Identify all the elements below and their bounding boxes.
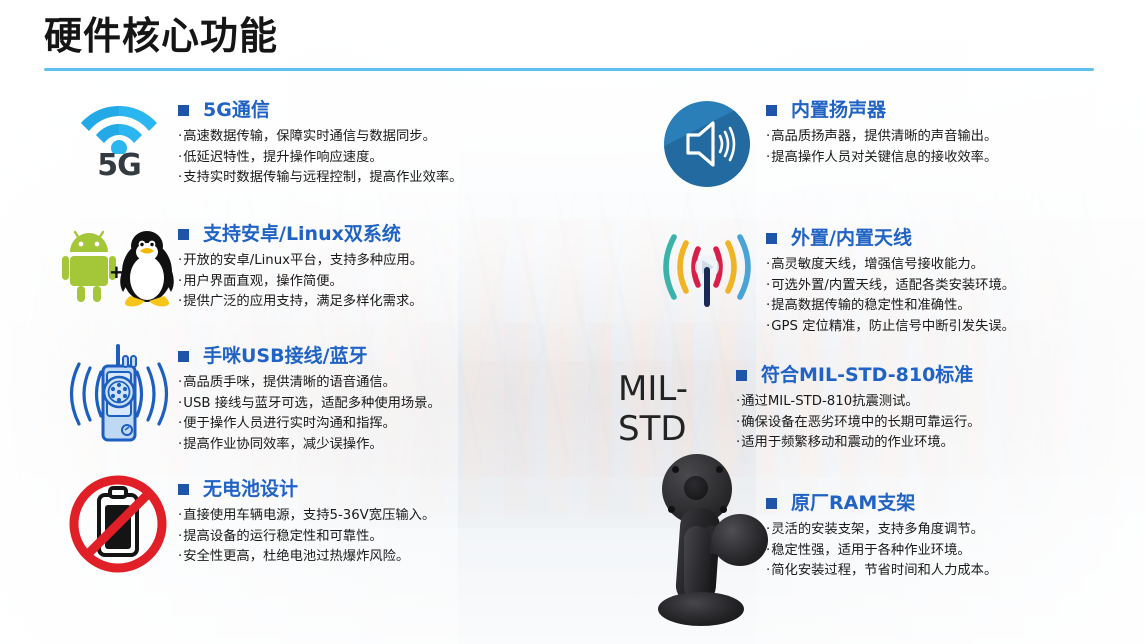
list-item: ·提高数据传输的稳定性和准确性。 — [766, 296, 1128, 317]
ram-mount-hole — [672, 466, 679, 473]
slide-header: 硬件核心功能 — [44, 14, 1104, 71]
list-item: ·提高设备的运行稳定性和可靠性。 — [178, 527, 580, 548]
list-item: ·适用于频繁移动和震动的作业环境。 — [736, 433, 1128, 454]
feature-icon-slot: + — [60, 220, 178, 316]
feature-body: 外置/内置天线 ·高灵敏度天线，增强信号接收能力。 ·可选外置/内置天线，适配各… — [766, 224, 1128, 337]
mil-std-wordmark: MIL-STD — [618, 379, 736, 439]
bullet-text: 确保设备在恶劣环境中的长期可靠运行。 — [741, 415, 980, 430]
feature-heading: 5G通信 — [178, 100, 580, 121]
list-item: ·提高操作人员对关键信息的接收效率。 — [766, 148, 1128, 169]
bullet-text: 高灵敏度天线，增强信号接收能力。 — [771, 257, 984, 272]
list-item: ·支持实时数据传输与远程控制，提高作业效率。 — [178, 168, 580, 189]
mil-std-wordmark-text: MIL-STD — [618, 369, 736, 449]
bullet-text: 高速数据传输，保障实时通信与数据同步。 — [183, 129, 436, 144]
feature-bullet-list: ·直接使用车辆电源，支持5-36V宽压输入。 ·提高设备的运行稳定性和可靠性。 … — [178, 506, 580, 568]
feature-title: 手咪USB接线/蓝牙 — [203, 346, 368, 367]
feature-5g-communication: 5G 5G通信 ·高速数据传输，保障实时通信与数据同步。 ·低延迟特性，提升操作… — [60, 96, 580, 192]
ram-mount-photo — [640, 452, 800, 630]
feature-antenna: 外置/内置天线 ·高灵敏度天线，增强信号接收能力。 ·可选外置/内置天线，适配各… — [648, 224, 1128, 337]
feature-heading: 无电池设计 — [178, 479, 580, 500]
feature-no-battery-design: 无电池设计 ·直接使用车辆电源，支持5-36V宽压输入。 ·提高设备的运行稳定性… — [60, 475, 580, 573]
list-item: ·高品质扬声器，提供清晰的声音输出。 — [766, 127, 1128, 148]
ram-mount-hole — [716, 466, 723, 473]
feature-bullet-list: ·高速数据传输，保障实时通信与数据同步。 ·低延迟特性，提升操作响应速度。 ·支… — [178, 127, 580, 189]
speaker-icon — [664, 101, 750, 187]
slide-root: 硬件核心功能 5G — [0, 0, 1145, 644]
bullet-text: 开放的安卓/Linux平台，支持多种应用。 — [183, 253, 423, 268]
feature-android-linux: + 支持安卓/Linux双系统 ·开放的安卓/Linux平台，支持多种应用。 ·… — [60, 220, 580, 316]
square-bullet-icon — [736, 370, 747, 381]
no-battery-icon — [69, 475, 169, 573]
feature-icon-slot — [60, 475, 178, 573]
list-item: ·高品质手咪，提供清晰的语音通信。 — [178, 373, 580, 394]
feature-bullet-list: ·通过MIL-STD-810抗震测试。 ·确保设备在恶劣环境中的长期可靠运行。 … — [736, 392, 1128, 454]
bullet-text: 简化安装过程，节省时间和人力成本。 — [771, 563, 997, 578]
bullet-text: 提高作业协同效率，减少误操作。 — [183, 437, 382, 452]
feature-heading: 外置/内置天线 — [766, 228, 1128, 249]
feature-title: 无电池设计 — [203, 479, 298, 500]
feature-bullet-list: ·高灵敏度天线，增强信号接收能力。 ·可选外置/内置天线，适配各类安装环境。 ·… — [766, 255, 1128, 337]
list-item: ·直接使用车辆电源，支持5-36V宽压输入。 — [178, 506, 580, 527]
feature-bullet-list: ·开放的安卓/Linux平台，支持多种应用。 ·用户界面直观，操作简便。 ·提供… — [178, 251, 580, 313]
antenna-icon — [652, 229, 762, 315]
ram-mount-center-hub — [684, 476, 708, 500]
list-item: ·便于操作人员进行实时沟通和指挥。 — [178, 414, 580, 435]
ram-mount-knob — [712, 514, 768, 566]
feature-built-in-speaker: 内置扬声器 ·高品质扬声器，提供清晰的声音输出。 ·提高操作人员对关键信息的接收… — [648, 96, 1128, 192]
feature-bullet-list: ·高品质扬声器，提供清晰的声音输出。 ·提高操作人员对关键信息的接收效率。 — [766, 127, 1128, 168]
feature-mic-usb-bluetooth: 手咪USB接线/蓝牙 ·高品质手咪，提供清晰的语音通信。 ·USB 接线与蓝牙可… — [60, 342, 580, 455]
feature-icon-slot: MIL-STD — [618, 361, 736, 457]
square-bullet-icon — [766, 105, 777, 116]
bullet-text: 可选外置/内置天线，适配各类安装环境。 — [771, 278, 1015, 293]
list-item: ·稳定性强，适用于各种作业环境。 — [766, 541, 1128, 562]
ram-mount-hole — [668, 506, 675, 513]
feature-body: 手咪USB接线/蓝牙 ·高品质手咪，提供清晰的语音通信。 ·USB 接线与蓝牙可… — [178, 342, 580, 455]
list-item: ·高速数据传输，保障实时通信与数据同步。 — [178, 127, 580, 148]
walkie-talkie-icon — [63, 342, 175, 446]
plus-sign-icon: + — [110, 260, 123, 286]
feature-heading: 符合MIL-STD-810标准 — [736, 365, 1128, 386]
ram-mount-lower-arm — [684, 526, 710, 600]
bullet-text: 灵活的安装支架，支持多角度调节。 — [771, 522, 984, 537]
feature-title: 原厂RAM支架 — [791, 493, 915, 514]
feature-body: 无电池设计 ·直接使用车辆电源，支持5-36V宽压输入。 ·提高设备的运行稳定性… — [178, 475, 580, 568]
square-bullet-icon — [178, 105, 189, 116]
list-item: ·提供广泛的应用支持，满足多样化需求。 — [178, 292, 580, 313]
list-item: ·USB 接线与蓝牙可选，适配多种使用场景。 — [178, 394, 580, 415]
title-underline — [44, 68, 1094, 71]
bullet-text: 提高设备的运行稳定性和可靠性。 — [183, 529, 382, 544]
feature-body: 内置扬声器 ·高品质扬声器，提供清晰的声音输出。 ·提高操作人员对关键信息的接收… — [766, 96, 1128, 168]
bullet-text: 用户界面直观，操作简便。 — [183, 274, 343, 289]
bullet-text: 提高数据传输的稳定性和准确性。 — [771, 298, 970, 313]
bullet-text: 提供广泛的应用支持，满足多样化需求。 — [183, 294, 422, 309]
page-title: 硬件核心功能 — [44, 14, 1104, 60]
square-bullet-icon — [178, 351, 189, 362]
list-item: ·可选外置/内置天线，适配各类安装环境。 — [766, 276, 1128, 297]
feature-title: 外置/内置天线 — [791, 228, 912, 249]
bullet-text: USB 接线与蓝牙可选，适配多种使用场景。 — [183, 396, 441, 411]
feature-body: 符合MIL-STD-810标准 ·通过MIL-STD-810抗震测试。 ·确保设… — [736, 361, 1128, 454]
square-bullet-icon — [766, 233, 777, 244]
feature-title: 符合MIL-STD-810标准 — [761, 365, 973, 386]
bullet-text: 提高操作人员对关键信息的接收效率。 — [771, 150, 997, 165]
feature-icon-slot: 5G — [60, 96, 178, 192]
bullet-text: 高品质扬声器，提供清晰的声音输出。 — [771, 129, 997, 144]
bullet-text: 便于操作人员进行实时沟通和指挥。 — [183, 416, 396, 431]
list-item: ·低延迟特性，提升操作响应速度。 — [178, 148, 580, 169]
feature-bullet-list: ·灵活的安装支架，支持多角度调节。 ·稳定性强，适用于各种作业环境。 ·简化安装… — [766, 520, 1128, 582]
list-item: ·用户界面直观，操作简便。 — [178, 272, 580, 293]
list-item: ·简化安装过程，节省时间和人力成本。 — [766, 561, 1128, 582]
feature-title: 支持安卓/Linux双系统 — [203, 224, 401, 245]
square-bullet-icon — [178, 229, 189, 240]
feature-icon-slot — [648, 224, 766, 320]
feature-title: 内置扬声器 — [791, 100, 886, 121]
feature-body: 5G通信 ·高速数据传输，保障实时通信与数据同步。 ·低延迟特性，提升操作响应速… — [178, 96, 580, 189]
feature-mil-std-810: MIL-STD 符合MIL-STD-810标准 ·通过MIL-STD-810抗震… — [648, 361, 1128, 457]
left-feature-column: 5G 5G通信 ·高速数据传输，保障实时通信与数据同步。 ·低延迟特性，提升操作… — [60, 96, 580, 573]
wifi-5g-icon: 5G — [71, 98, 167, 190]
list-item: ·高灵敏度天线，增强信号接收能力。 — [766, 255, 1128, 276]
list-item: ·安全性更高，杜绝电池过热爆炸风险。 — [178, 547, 580, 568]
bullet-text: 低延迟特性，提升操作响应速度。 — [183, 150, 382, 165]
feature-title: 5G通信 — [203, 100, 270, 121]
bullet-text: 高品质手咪，提供清晰的语音通信。 — [183, 375, 396, 390]
feature-body: 原厂RAM支架 ·灵活的安装支架，支持多角度调节。 ·稳定性强，适用于各种作业环… — [766, 489, 1128, 582]
bullet-text: 适用于频繁移动和震动的作业环境。 — [741, 435, 954, 450]
android-linux-icon: + — [60, 226, 178, 310]
feature-icon-slot — [60, 342, 178, 446]
feature-icon-slot — [648, 96, 766, 192]
feature-heading: 原厂RAM支架 — [766, 493, 1128, 514]
wifi-5g-icon-label: 5G — [71, 148, 167, 183]
square-bullet-icon — [178, 484, 189, 495]
bullet-text: 直接使用车辆电源，支持5-36V宽压输入。 — [183, 508, 435, 523]
list-item: ·灵活的安装支架，支持多角度调节。 — [766, 520, 1128, 541]
bullet-text: 支持实时数据传输与远程控制，提高作业效率。 — [183, 170, 462, 185]
bullet-text: 通过MIL-STD-810抗震测试。 — [741, 394, 918, 409]
feature-heading: 内置扬声器 — [766, 100, 1128, 121]
feature-bullet-list: ·高品质手咪，提供清晰的语音通信。 ·USB 接线与蓝牙可选，适配多种使用场景。… — [178, 373, 580, 455]
feature-heading: 支持安卓/Linux双系统 — [178, 224, 580, 245]
ram-mount-base-plate — [658, 592, 744, 626]
list-item: ·确保设备在恶劣环境中的长期可靠运行。 — [736, 413, 1128, 434]
list-item: ·开放的安卓/Linux平台，支持多种应用。 — [178, 251, 580, 272]
feature-heading: 手咪USB接线/蓝牙 — [178, 346, 580, 367]
bullet-text: 稳定性强，适用于各种作业环境。 — [771, 543, 970, 558]
feature-body: 支持安卓/Linux双系统 ·开放的安卓/Linux平台，支持多种应用。 ·用户… — [178, 220, 580, 313]
bullet-text: 安全性更高，杜绝电池过热爆炸风险。 — [183, 549, 409, 564]
ram-mount-hole — [720, 506, 727, 513]
list-item: ·通过MIL-STD-810抗震测试。 — [736, 392, 1128, 413]
bullet-text: GPS 定位精准，防止信号中断引发失误。 — [771, 319, 1015, 334]
list-item: ·提高作业协同效率，减少误操作。 — [178, 435, 580, 456]
list-item: ·GPS 定位精准，防止信号中断引发失误。 — [766, 317, 1128, 338]
